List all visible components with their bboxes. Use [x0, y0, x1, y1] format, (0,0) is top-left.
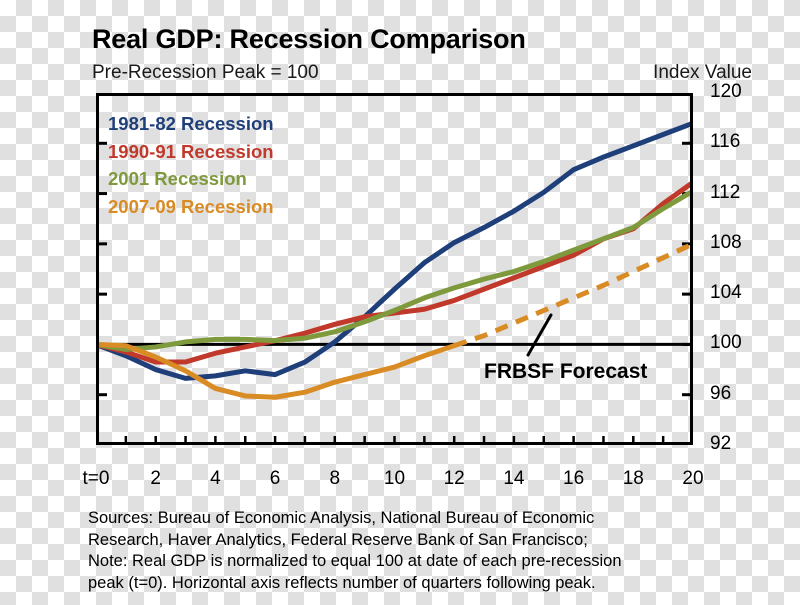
x-tick-label-12: 12 — [444, 468, 465, 490]
page-title: Real GDP: Recession Comparison — [92, 24, 526, 55]
legend-entry-0: 1981-82 Recession — [108, 110, 368, 138]
x-tick-label-20: 20 — [682, 468, 703, 490]
chart-page: Real GDP: Recession Comparison Pre-Reces… — [0, 0, 800, 605]
chart-subtitle: Pre-Recession Peak = 100 — [92, 62, 319, 84]
y-tick-label-108: 108 — [710, 232, 742, 254]
x-tick-label-0: t=0 — [83, 468, 110, 490]
footnote-line-1: Research, Haver Analytics, Federal Reser… — [88, 530, 728, 552]
x-tick-label-10: 10 — [384, 468, 405, 490]
x-tick-label-14: 14 — [503, 468, 524, 490]
x-tick-label-16: 16 — [563, 468, 584, 490]
chart-legend: 1981-82 Recession1990-91 Recession2001 R… — [108, 110, 368, 220]
y-tick-label-92: 92 — [710, 433, 731, 455]
y-tick-label-116: 116 — [710, 131, 740, 153]
y-tick-label-120: 120 — [710, 81, 742, 103]
legend-entry-2: 2001 Recession — [108, 165, 368, 193]
footnote-line-3: peak (t=0). Horizontal axis reflects num… — [88, 573, 728, 595]
x-tick-label-8: 8 — [330, 468, 341, 490]
x-tick-label-18: 18 — [623, 468, 644, 490]
y-tick-label-112: 112 — [710, 182, 740, 204]
x-tick-label-6: 6 — [270, 468, 281, 490]
footnote-line-2: Note: Real GDP is normalized to equal 10… — [88, 551, 728, 573]
y-tick-label-104: 104 — [710, 282, 742, 304]
forecast-annotation-label: FRBSF Forecast — [484, 360, 647, 384]
y-tick-label-96: 96 — [710, 383, 731, 405]
y-tick-label-100: 100 — [710, 332, 742, 354]
legend-entry-1: 1990-91 Recession — [108, 138, 368, 166]
chart-footnote: Sources: Bureau of Economic Analysis, Na… — [88, 508, 728, 594]
x-tick-label-4: 4 — [210, 468, 221, 490]
footnote-line-0: Sources: Bureau of Economic Analysis, Na… — [88, 508, 728, 530]
x-tick-label-2: 2 — [150, 468, 161, 490]
legend-entry-3: 2007-09 Recession — [108, 193, 368, 221]
